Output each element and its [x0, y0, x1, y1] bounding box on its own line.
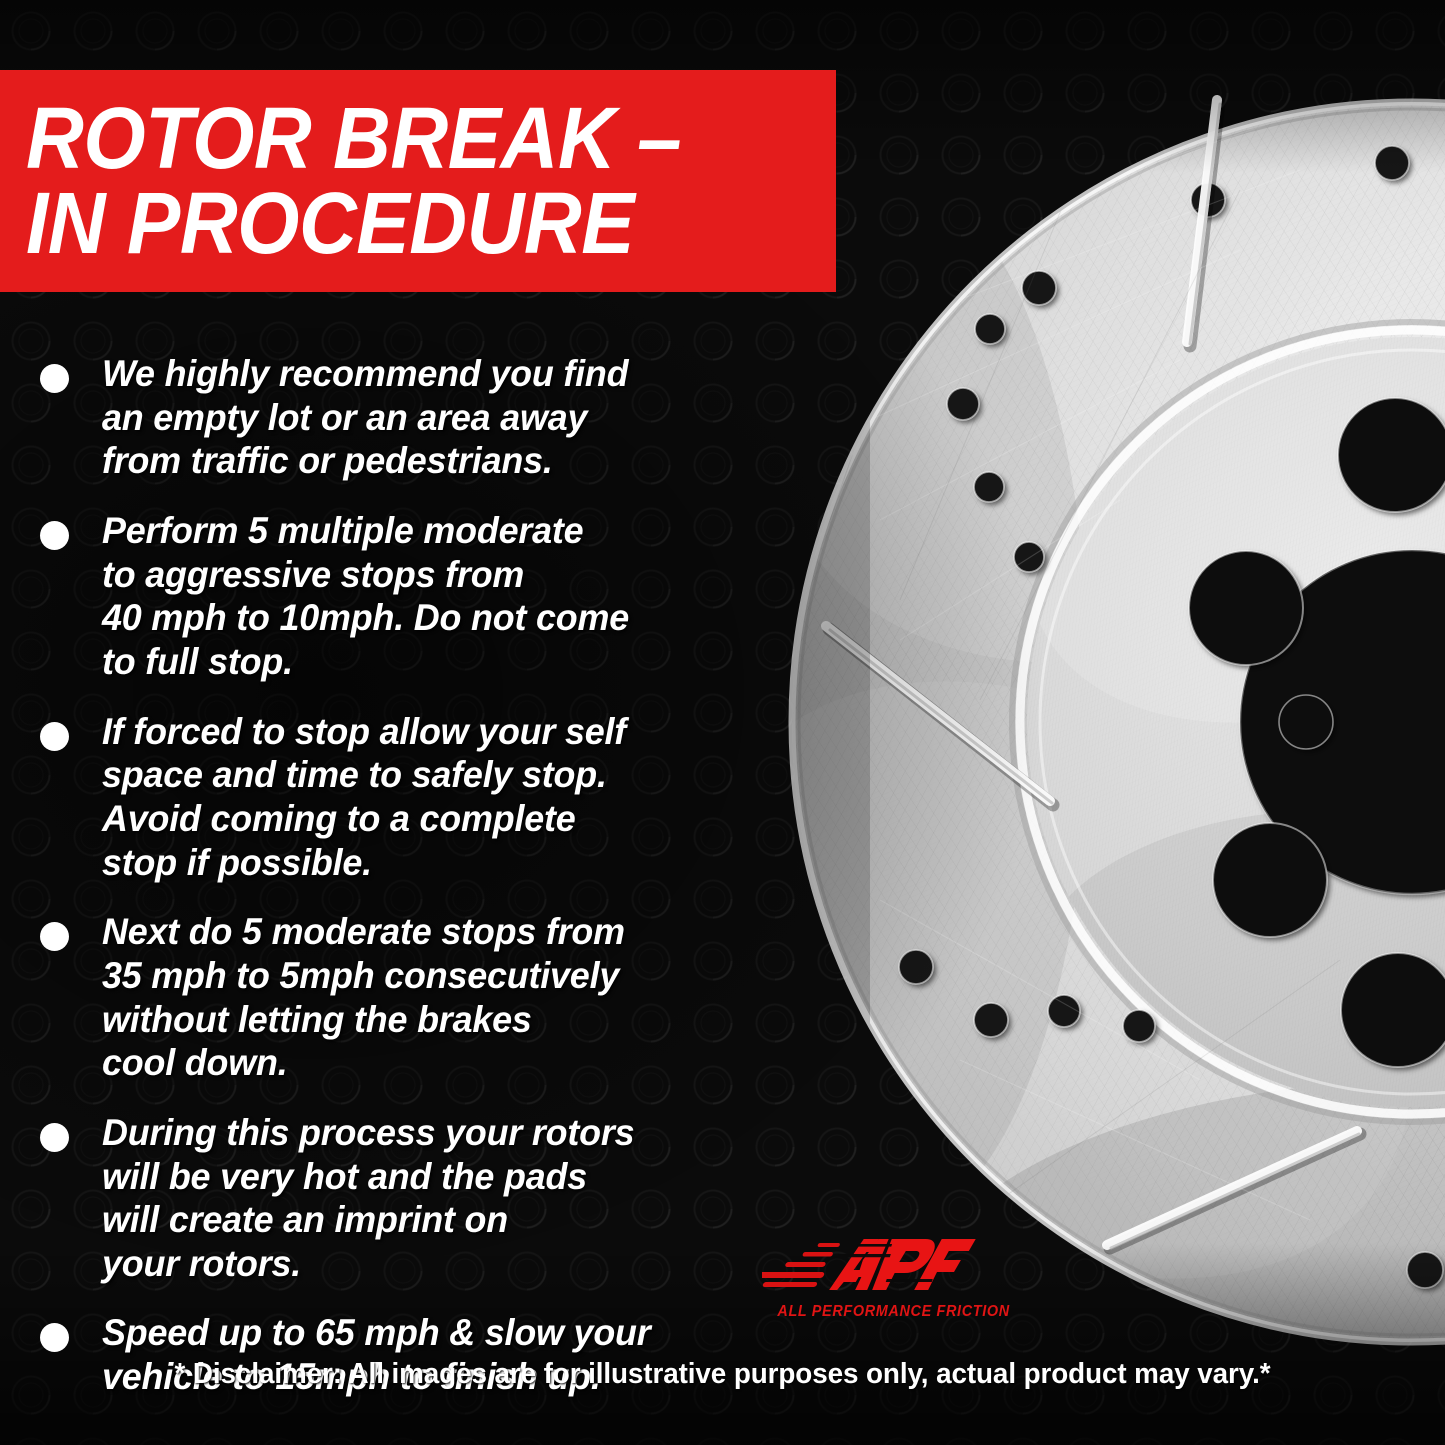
title-banner: ROTOR BREAK – IN PROCEDURE [0, 70, 836, 292]
bullet-dot-icon [40, 1323, 69, 1352]
list-item-label: Perform 5 multiple moderate to aggressiv… [102, 509, 629, 684]
disclaimer-text: * Disclaimer: All images are for illustr… [29, 1358, 1416, 1391]
list-item-label: During this process your rotors will be … [102, 1111, 634, 1286]
apf-tagline: ALL PERFORMANCE FRICTION [777, 1303, 974, 1321]
list-item: We highly recommend you find an empty lo… [40, 352, 782, 483]
page-title-line-2: IN PROCEDURE [26, 181, 771, 266]
list-item-label: If forced to stop allow your self space … [102, 710, 626, 885]
procedure-steps-list: We highly recommend you find an empty lo… [40, 352, 782, 1425]
list-item: Next do 5 moderate stops from 35 mph to … [40, 910, 782, 1085]
page-title-line-1: ROTOR BREAK – [26, 96, 771, 181]
promo-graphic: ROTOR BREAK – IN PROCEDURE We highly rec… [0, 0, 1445, 1445]
bullet-dot-icon [40, 521, 69, 550]
list-item-label: Next do 5 moderate stops from 35 mph to … [102, 910, 625, 1085]
bullet-dot-icon [40, 364, 69, 393]
bullet-dot-icon [40, 722, 69, 751]
bullet-dot-icon [40, 1123, 69, 1152]
list-item: Perform 5 multiple moderate to aggressiv… [40, 509, 782, 684]
apf-logo: ALL PERFORMANCE FRICTION [762, 1232, 982, 1332]
list-item: If forced to stop allow your self space … [40, 710, 782, 885]
list-item-label: We highly recommend you find an empty lo… [102, 352, 628, 483]
bullet-dot-icon [40, 922, 69, 951]
list-item: During this process your rotors will be … [40, 1111, 782, 1286]
apf-wordmark-icon [762, 1232, 982, 1304]
